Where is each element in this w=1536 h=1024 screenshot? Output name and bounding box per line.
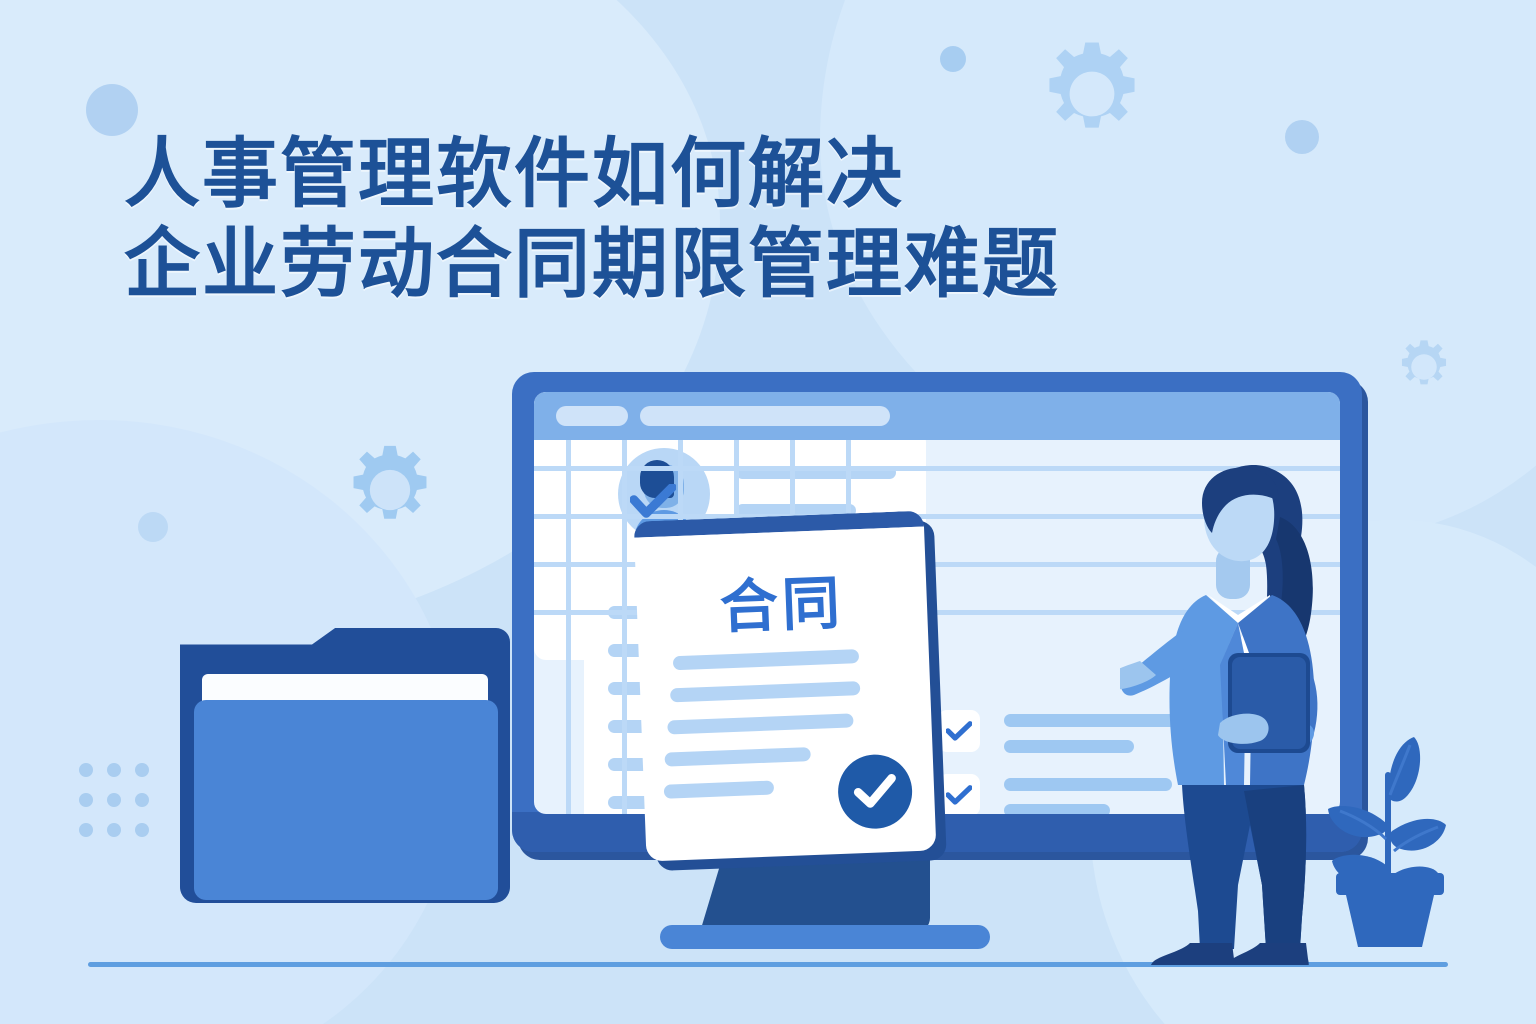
calendar-check-icon [630, 484, 676, 520]
checkbox[interactable] [938, 710, 980, 752]
pot-rim [1336, 873, 1444, 895]
decorative-circle-right [1285, 120, 1319, 154]
dot-grid-decoration [78, 762, 150, 842]
check-icon [852, 774, 897, 810]
gear-small-right-icon [1395, 338, 1453, 396]
pot [1346, 895, 1434, 947]
monitor-stand-base [660, 925, 990, 949]
calendar-header-pill [640, 406, 890, 426]
contract-approved-badge [837, 753, 914, 830]
page-title-line-2: 企业劳动合同期限管理难题 [124, 220, 1060, 310]
contract-document[interactable]: 合同 [634, 511, 937, 862]
contract-line [664, 781, 774, 799]
decorative-circle-mid [940, 46, 966, 72]
contract-sheet: 合同 [634, 511, 937, 862]
contract-line [667, 713, 853, 734]
contract-line [673, 649, 859, 670]
calendar-gridline-v [566, 440, 571, 660]
illustration-banner: 人事管理软件如何解决 企业劳动合同期限管理难题 [0, 0, 1536, 1024]
folder-front [194, 700, 498, 900]
checklist-line [1004, 804, 1110, 814]
page-title: 人事管理软件如何解决 企业劳动合同期限管理难题 [124, 130, 1060, 309]
document-folder [180, 628, 510, 903]
potted-plant [1310, 735, 1470, 950]
contract-line [664, 747, 810, 767]
contract-line [670, 681, 860, 702]
calendar-header-pill [556, 406, 628, 426]
calendar-gridline-v [622, 440, 627, 660]
decorative-circle-left [86, 84, 138, 136]
contract-title: 合同 [635, 553, 928, 648]
decorative-circle-lower-left [138, 512, 168, 542]
check-icon [946, 785, 972, 806]
check-icon [946, 721, 972, 742]
checklist-line [1004, 740, 1134, 753]
page-title-line-1: 人事管理软件如何解决 [124, 132, 904, 217]
calendar-gridline-h [534, 466, 912, 471]
gear-medium-left-icon [342, 442, 438, 538]
